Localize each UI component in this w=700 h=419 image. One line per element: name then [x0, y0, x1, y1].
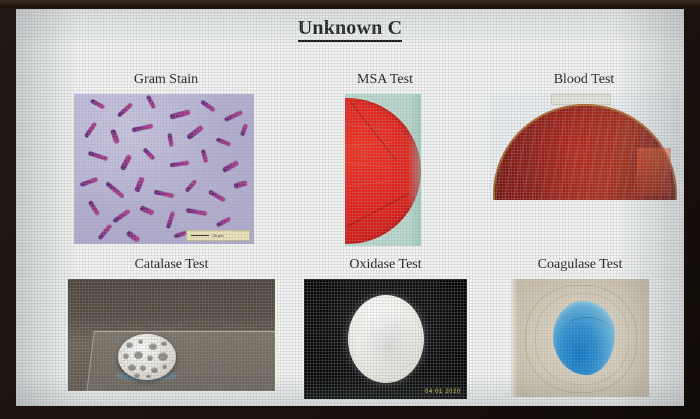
scale-bar-line: [191, 235, 209, 236]
panel-oxidase-test: Oxidase Test 04 01 2020: [304, 257, 467, 399]
catalase-test-image: [68, 279, 275, 391]
panel-label-blood-test: Blood Test: [489, 72, 679, 88]
panel-catalase-test: Catalase Test: [68, 257, 275, 393]
blood-agar-highlight: [637, 148, 671, 196]
gram-stain-image: 25 µm: [74, 94, 254, 244]
page-title-text: Unknown C: [298, 17, 403, 42]
catalase-grain-overlay: [68, 279, 275, 391]
coagulase-reaction-spot: [553, 301, 615, 375]
scale-bar-label: 25 µm: [212, 234, 223, 238]
panel-blood-test: Blood Test: [489, 72, 679, 204]
panel-msa-test: MSA Test: [345, 72, 425, 250]
panel-gram-stain: Gram Stain: [74, 72, 258, 247]
panel-label-gram-stain: Gram Stain: [74, 72, 258, 88]
coagulase-test-image: [511, 279, 649, 397]
msa-edge-shade: [407, 94, 421, 246]
monitor-screen: Unknown C Gram Stain: [16, 9, 684, 406]
oxidase-disc-mottle: [348, 295, 424, 383]
scale-bar: 25 µm: [186, 230, 250, 241]
coagulase-spot-seam: [565, 317, 609, 342]
monitor-bezel: Unknown C Gram Stain: [0, 0, 700, 419]
oxidase-date-stamp: 04 01 2020: [425, 389, 461, 395]
panel-coagulase-test: Coagulase Test: [511, 257, 649, 397]
panel-label-coagulase-test: Coagulase Test: [491, 257, 669, 273]
oxidase-test-image: 04 01 2020: [304, 279, 467, 399]
blood-test-image: [489, 94, 679, 200]
msa-test-image: [345, 94, 421, 246]
panel-label-oxidase-test: Oxidase Test: [304, 257, 467, 273]
presentation-slide: Unknown C Gram Stain: [16, 9, 684, 406]
panel-label-msa-test: MSA Test: [305, 72, 465, 88]
page-title: Unknown C: [16, 17, 684, 40]
panel-label-catalase-test: Catalase Test: [68, 257, 275, 273]
bezel-sheen: [0, 0, 700, 8]
oxidase-filter-disc: [348, 295, 424, 383]
coagulase-card-edge: [511, 279, 518, 397]
